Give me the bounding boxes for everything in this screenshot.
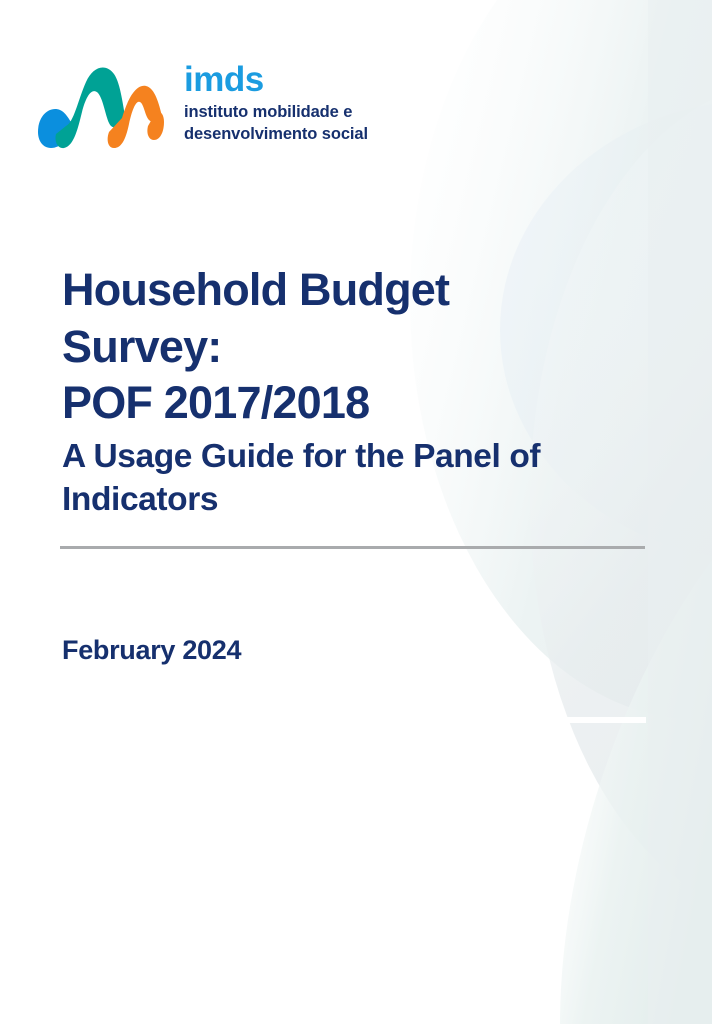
bg-sweep-lower (560, 560, 712, 1024)
publication-date: February 2024 (62, 635, 241, 666)
page-title-line-3: POF 2017/2018 (62, 375, 662, 432)
page-subtitle-line-1: A Usage Guide for the Panel of (62, 436, 632, 479)
logo-tagline-line-2: desenvolvimento social (184, 124, 368, 146)
page-title-block: Household Budget Survey: POF 2017/2018 A… (62, 262, 662, 521)
logo-tagline-line-1: instituto mobilidade e (184, 102, 368, 124)
logo-text-group: imds instituto mobilidade e desenvolvime… (184, 60, 368, 146)
page-title-line-1: Household Budget (62, 262, 662, 319)
page-title-line-2: Survey: (62, 319, 662, 376)
page-subtitle-block: A Usage Guide for the Panel of Indicator… (62, 436, 632, 521)
cover-page: imds instituto mobilidade e desenvolvime… (0, 0, 712, 1024)
page-subtitle-line-2: Indicators (62, 479, 632, 522)
white-accent-bar (546, 717, 646, 723)
horizontal-divider (60, 546, 645, 549)
imds-wave-mark-icon (36, 60, 170, 156)
imds-logo: imds instituto mobilidade e desenvolvime… (36, 60, 368, 156)
logo-wordmark: imds (184, 62, 368, 97)
